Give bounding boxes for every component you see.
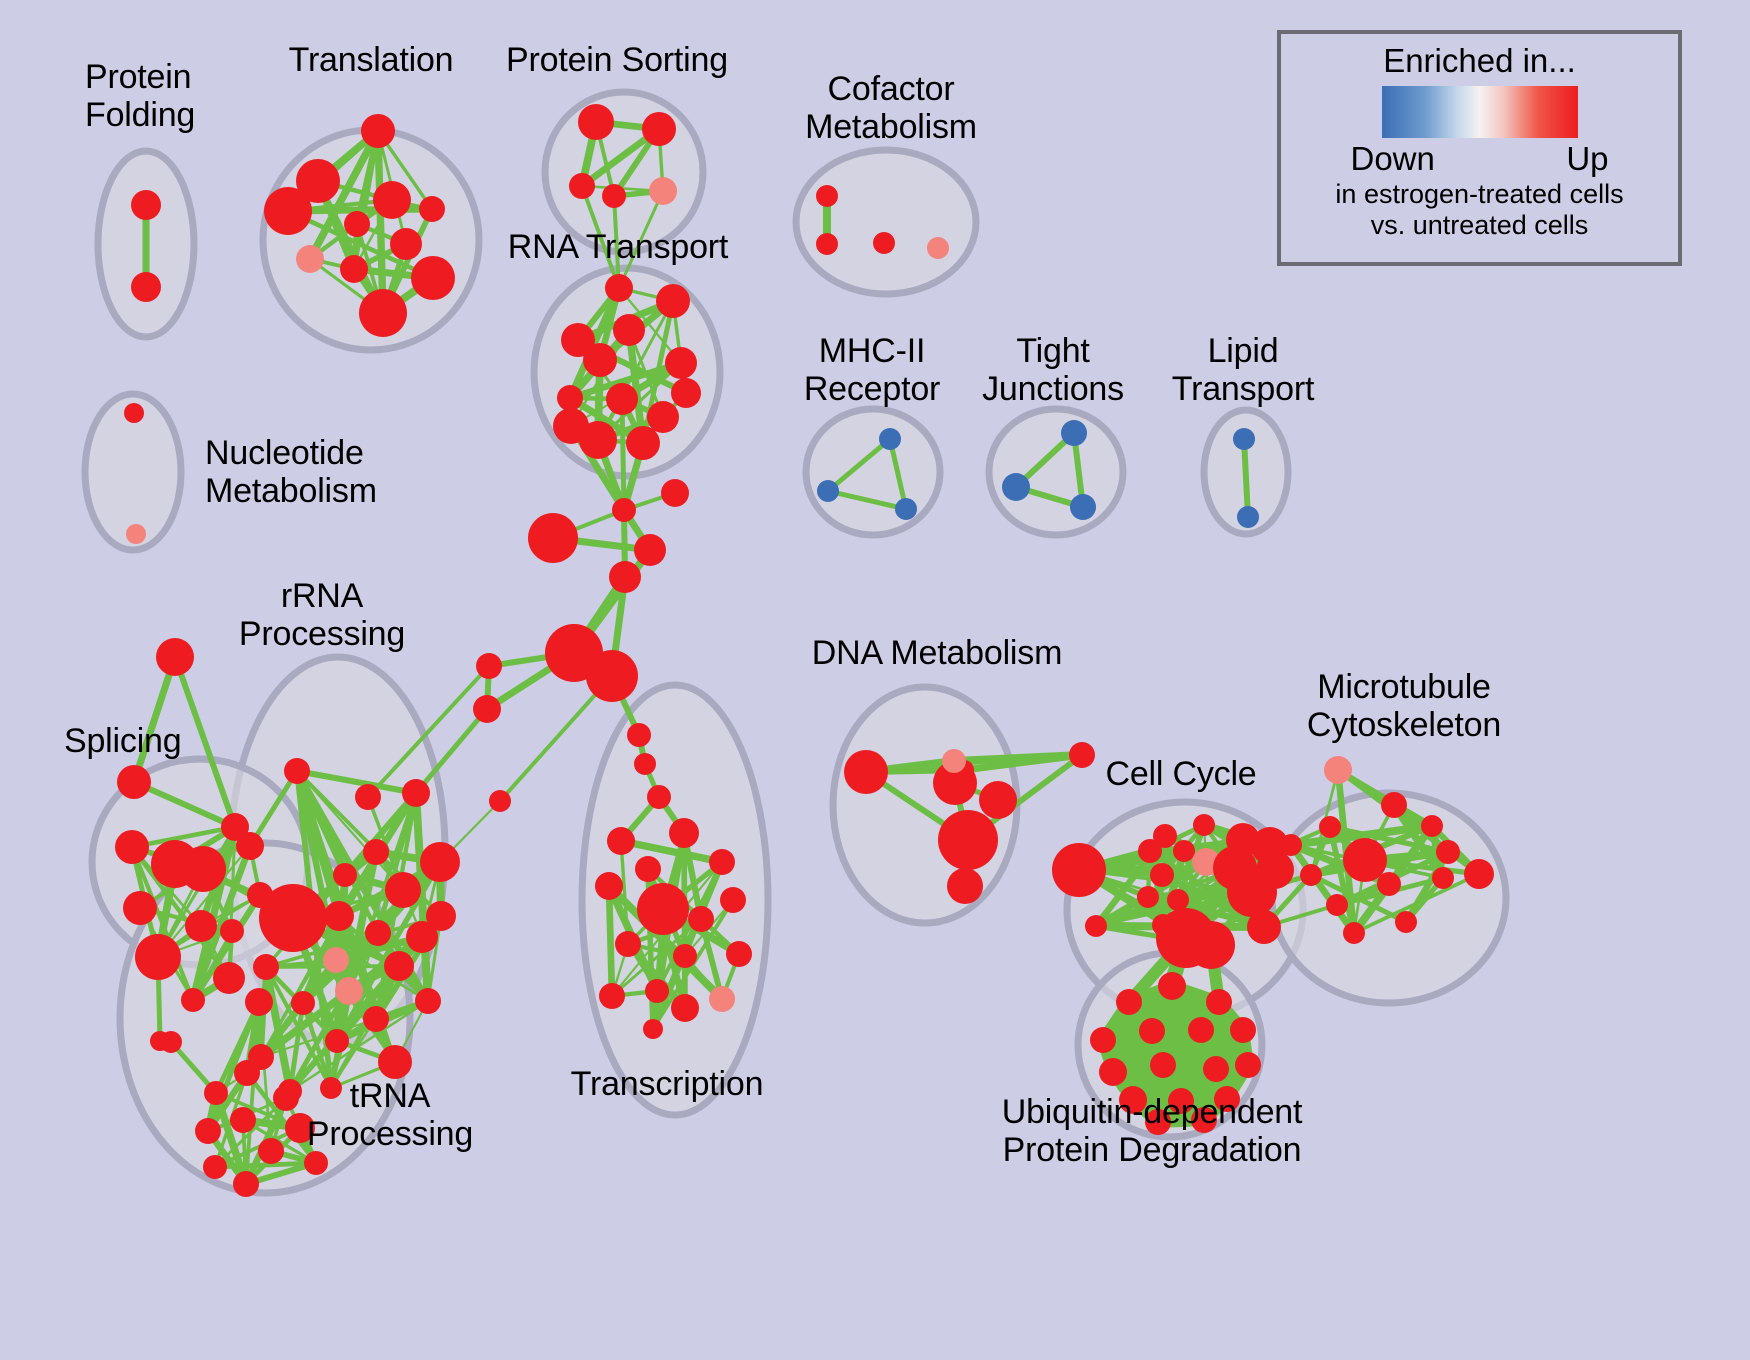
network-node[interactable] [245,988,273,1016]
network-node[interactable] [156,638,194,676]
network-node[interactable] [669,818,699,848]
network-node[interactable] [359,289,407,337]
network-node[interactable] [578,104,614,140]
network-node[interactable] [234,1060,260,1086]
network-node[interactable] [1300,864,1322,886]
network-node[interactable] [304,1151,328,1175]
legend-up-label: Up [1566,140,1608,178]
network-node[interactable] [938,810,998,870]
network-node[interactable] [647,401,679,433]
network-edge [1244,439,1248,517]
network-node[interactable] [123,891,157,925]
network-node[interactable] [1137,886,1159,908]
network-node[interactable] [645,979,669,1003]
network-node[interactable] [557,385,583,411]
cluster-label-cell-cycle: Cell Cycle [1105,755,1256,793]
network-node[interactable] [204,1081,228,1105]
network-node[interactable] [273,1085,299,1111]
network-node[interactable] [1343,838,1387,882]
network-node[interactable] [420,842,460,882]
cluster-label-nucleotide: NucleotideMetabolism [205,434,377,511]
cluster-label-splicing: Splicing [64,722,181,760]
network-node[interactable] [1187,921,1235,969]
network-node[interactable] [528,513,578,563]
network-node[interactable] [355,784,381,810]
network-node[interactable] [609,561,641,593]
cluster-label-dna-metabolism: DNA Metabolism [812,634,1062,672]
network-node[interactable] [1090,1027,1116,1053]
network-node[interactable] [1167,889,1189,911]
legend-title: Enriched in... [1383,42,1576,80]
cluster-label-protein-folding: ProteinFolding [85,58,195,135]
network-node[interactable] [634,534,666,566]
network-node[interactable] [649,177,677,205]
network-node[interactable] [325,1029,349,1053]
network-node[interactable] [324,901,354,931]
network-node[interactable] [1085,915,1107,937]
network-node[interactable] [291,991,315,1015]
network-node[interactable] [373,181,411,219]
network-node[interactable] [665,347,697,379]
network-node[interactable] [384,951,414,981]
cluster-label-transcription: Transcription [571,1065,764,1103]
network-node[interactable] [131,190,161,220]
enrichment-network-figure: ProteinFoldingTranslationProtein Sorting… [0,0,1750,1360]
network-node[interactable] [411,256,455,300]
network-node[interactable] [1139,1018,1165,1044]
network-node[interactable] [927,237,949,259]
network-node[interactable] [476,653,502,679]
network-node[interactable] [612,498,636,522]
network-node[interactable] [1203,1056,1229,1082]
network-node[interactable] [124,403,144,423]
network-node[interactable] [236,832,264,860]
network-node[interactable] [117,765,151,799]
network-node[interactable] [284,758,310,784]
network-node[interactable] [1069,742,1095,768]
network-node[interactable] [1237,506,1259,528]
network-node[interactable] [1432,867,1454,889]
network-edge [622,399,624,510]
network-node[interactable] [1150,863,1174,887]
network-node[interactable] [816,233,838,255]
cluster-label-tight-junctions: TightJunctions [982,332,1124,409]
network-node[interactable] [1230,1017,1256,1043]
network-node[interactable] [569,173,595,199]
network-node[interactable] [607,827,635,855]
network-edge [609,886,612,996]
network-node[interactable] [873,232,895,254]
network-node[interactable] [390,228,422,260]
legend-box: Enriched in... Down Up in estrogen-treat… [1277,30,1682,266]
network-node[interactable] [895,498,917,520]
network-node[interactable] [602,184,626,208]
network-node[interactable] [1343,922,1365,944]
network-node[interactable] [661,479,689,507]
network-node[interactable] [637,883,689,935]
cluster-label-cofactor: CofactorMetabolism [805,70,977,147]
network-node[interactable] [979,781,1017,819]
network-node[interactable] [363,839,389,865]
legend-endpoints: Down Up [1351,140,1609,178]
network-node[interactable] [586,650,638,702]
network-node[interactable] [671,378,701,408]
network-node[interactable] [1188,1017,1214,1043]
network-node[interactable] [647,785,671,809]
network-node[interactable] [1326,894,1348,916]
network-node[interactable] [634,753,656,775]
network-node[interactable] [402,779,430,807]
network-node[interactable] [1099,1058,1127,1086]
network-node[interactable] [361,114,395,148]
cluster-label-lipid-transport: LipidTransport [1172,332,1314,409]
network-node[interactable] [1116,989,1142,1015]
network-node[interactable] [1233,428,1255,450]
network-node[interactable] [1235,1052,1261,1078]
network-node[interactable] [1247,910,1281,944]
network-node[interactable] [385,872,421,908]
network-node[interactable] [340,255,368,283]
network-node[interactable] [1381,792,1407,818]
network-node[interactable] [1227,867,1277,917]
network-node[interactable] [656,284,690,318]
network-node[interactable] [642,112,676,146]
network-node[interactable] [1138,839,1162,863]
network-node[interactable] [635,856,661,882]
network-node[interactable] [195,1118,221,1144]
network-node[interactable] [415,988,441,1014]
network-node[interactable] [489,790,511,812]
network-node[interactable] [1150,1052,1176,1078]
network-node[interactable] [233,1171,259,1197]
network-node[interactable] [160,1031,182,1053]
legend-subtitle-line2: vs. untreated cells [1371,210,1589,240]
network-node[interactable] [606,383,638,415]
network-node[interactable] [185,910,217,942]
network-node[interactable] [720,887,746,913]
network-node[interactable] [626,426,660,460]
network-node[interactable] [1395,911,1417,933]
network-node[interactable] [323,947,349,973]
network-node[interactable] [264,187,312,235]
cluster-label-translation: Translation [289,41,454,79]
network-node[interactable] [220,919,244,943]
network-node[interactable] [203,1155,227,1179]
network-node[interactable] [406,921,438,953]
legend-down-label: Down [1351,140,1435,178]
network-node[interactable] [613,314,645,346]
cluster-label-ubiquitin: Ubiquitin-dependentProtein Degradation [1002,1093,1303,1170]
network-node[interactable] [1319,816,1341,838]
network-node[interactable] [1421,815,1443,837]
cluster-label-microtubule: MicrotubuleCytoskeleton [1307,668,1501,745]
network-node[interactable] [473,695,501,723]
network-node[interactable] [131,272,161,302]
network-node[interactable] [1002,473,1030,501]
network-node[interactable] [1193,814,1215,836]
network-node[interactable] [1173,840,1195,862]
cluster-label-mhc-ii: MHC-IIReceptor [804,332,940,409]
network-node[interactable] [253,954,279,980]
network-node[interactable] [363,1006,389,1032]
network-node[interactable] [605,274,633,302]
network-node[interactable] [816,185,838,207]
legend-color-gradient-bar [1382,86,1578,138]
network-node[interactable] [259,884,327,952]
cluster-hull-tight-junctions [989,409,1123,535]
network-node[interactable] [817,480,839,502]
network-node[interactable] [1061,420,1087,446]
network-node[interactable] [709,986,735,1012]
network-node[interactable] [673,944,697,968]
network-node[interactable] [335,977,363,1005]
network-node[interactable] [599,983,625,1009]
network-node[interactable] [135,934,181,980]
cluster-hull-microtubule [1272,793,1506,1003]
legend-subtitle-line1: in estrogen-treated cells [1335,179,1623,209]
network-node[interactable] [1052,843,1106,897]
network-node[interactable] [1377,872,1401,896]
cluster-label-rna-transport: RNA Transport [508,228,728,266]
network-node[interactable] [595,872,623,900]
network-node[interactable] [115,830,149,864]
network-node[interactable] [844,750,888,794]
network-node[interactable] [1464,859,1494,889]
network-node[interactable] [181,988,205,1012]
network-node[interactable] [942,749,966,773]
network-node[interactable] [643,1019,663,1039]
network-node[interactable] [365,920,391,946]
cluster-label-rrna-processing: rRNAProcessing [239,577,405,654]
network-node[interactable] [709,849,735,875]
network-node[interactable] [615,931,641,957]
network-node[interactable] [1324,756,1352,784]
network-node[interactable] [1070,494,1096,520]
network-node[interactable] [419,196,445,222]
network-node[interactable] [180,846,226,892]
network-node[interactable] [378,1045,412,1079]
cluster-label-protein-sorting: Protein Sorting [506,41,728,79]
network-node[interactable] [230,1107,256,1133]
network-node[interactable] [296,245,324,273]
network-node[interactable] [333,863,357,887]
network-node[interactable] [579,421,617,459]
network-node[interactable] [1436,840,1460,864]
network-node[interactable] [213,962,245,994]
network-node[interactable] [627,723,651,747]
network-node[interactable] [1206,989,1232,1015]
network-node[interactable] [344,211,370,237]
network-node[interactable] [1158,972,1186,1000]
network-node[interactable] [879,428,901,450]
network-node[interactable] [726,941,752,967]
cluster-label-trna-processing: tRNAProcessing [307,1077,473,1154]
network-node[interactable] [258,1138,284,1164]
network-node[interactable] [1280,834,1302,856]
network-node[interactable] [583,343,617,377]
cluster-hull-mhc-ii [806,409,940,535]
network-node[interactable] [126,524,146,544]
network-node[interactable] [688,906,714,932]
network-node[interactable] [947,868,983,904]
network-node[interactable] [671,994,699,1022]
